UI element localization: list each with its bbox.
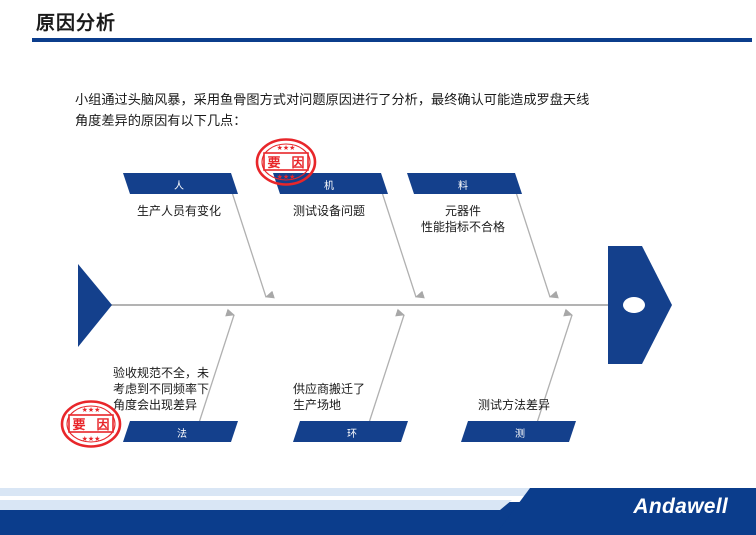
stamp-char-1: 要	[72, 418, 85, 433]
svg-text:★★★: ★★★	[277, 173, 296, 181]
brand-logo-text: Andawell	[633, 495, 728, 519]
bone-line-bottom-2	[366, 315, 404, 432]
cause-line: 性能指标不合格	[402, 219, 524, 235]
stamp-char-1: 要	[267, 156, 280, 171]
category-banner-bottom-2[interactable]	[293, 421, 408, 442]
key-cause-stamp-bottom: ★★★ ★★★ 要 因	[60, 400, 122, 448]
cause-line: 考虑到不同频率下	[113, 381, 243, 397]
category-banner-bottom-1[interactable]	[123, 421, 238, 442]
fish-tail	[78, 264, 112, 347]
cause-text-top-1: 生产人员有变化	[118, 203, 240, 219]
category-banner-top-1[interactable]	[123, 173, 238, 194]
cause-text-bottom-2: 供应商搬迁了 生产场地	[293, 381, 423, 413]
category-banner-bottom-3[interactable]	[461, 421, 576, 442]
svg-text:★★★: ★★★	[82, 435, 101, 443]
cause-text-bottom-3: 测试方法差异	[452, 397, 576, 413]
svg-text:★★★: ★★★	[277, 144, 296, 152]
cause-line: 验收规范不全，未	[113, 365, 243, 381]
bone-line-top-3	[512, 180, 550, 297]
bone-line-top-1	[228, 180, 266, 297]
cause-line: 生产人员有变化	[118, 203, 240, 219]
category-banner-top-3[interactable]	[407, 173, 522, 194]
cause-line: 角度会出现差异	[113, 397, 243, 413]
cause-text-top-2: 测试设备问题	[268, 203, 390, 219]
cause-line: 生产场地	[293, 397, 423, 413]
cause-text-bottom-1: 验收规范不全，未 考虑到不同频率下 角度会出现差异	[113, 365, 243, 413]
bone-line-top-2	[378, 180, 416, 297]
stamp-char-2: 因	[291, 156, 304, 171]
cause-line: 测试方法差异	[452, 397, 576, 413]
key-cause-stamp-top: ★★★ ★★★ 要 因	[255, 138, 317, 186]
fish-eye	[623, 297, 645, 313]
cause-line: 供应商搬迁了	[293, 381, 423, 397]
svg-text:★★★: ★★★	[82, 406, 101, 414]
cause-line: 元器件	[402, 203, 524, 219]
cause-line: 测试设备问题	[268, 203, 390, 219]
fishbone-diagram	[0, 0, 756, 535]
cause-text-top-3: 元器件 性能指标不合格	[402, 203, 524, 235]
bone-line-bottom-3	[534, 315, 572, 432]
stamp-char-2: 因	[96, 418, 109, 433]
